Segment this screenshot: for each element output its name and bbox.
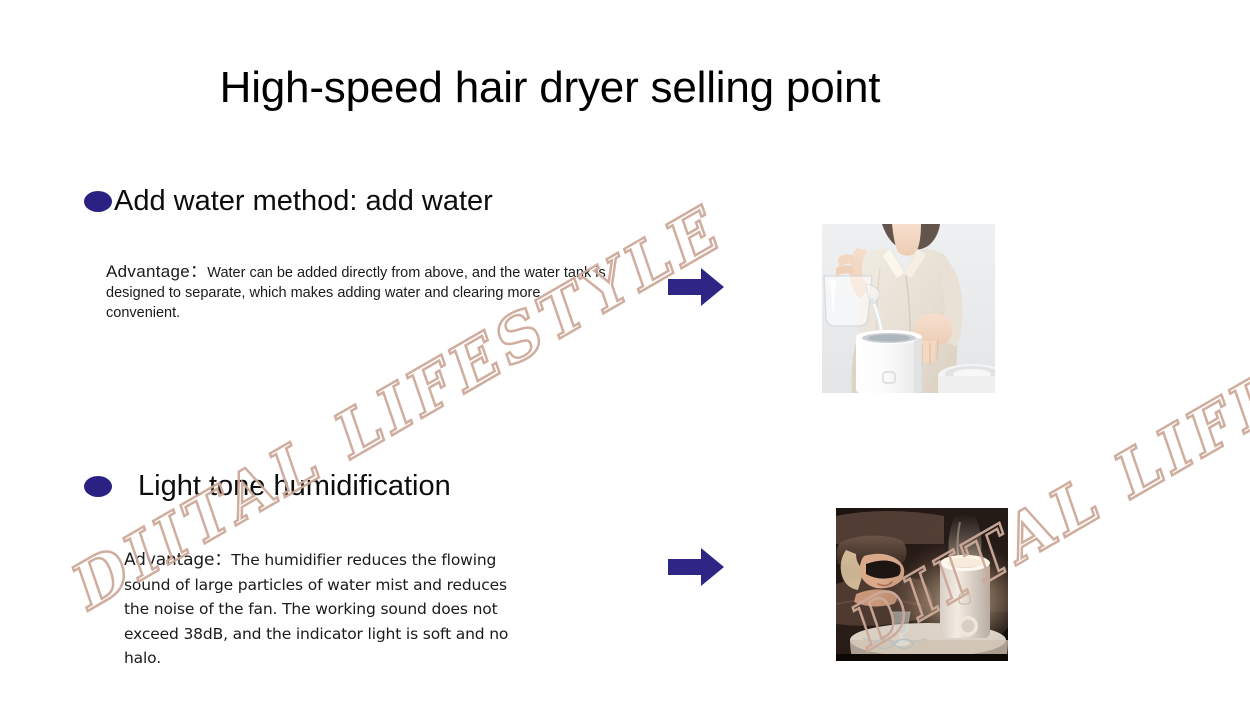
- right-block-arrow-glyph: [668, 548, 724, 586]
- photo-add-water: [822, 224, 995, 393]
- right-block-arrow-icon: [668, 268, 724, 306]
- advantage-lead-label: Advantage：: [124, 550, 231, 570]
- right-block-arrow-glyph: [668, 268, 724, 306]
- section-heading-label: Light tone humidification: [138, 470, 451, 503]
- photo-add-water-illustration: [822, 224, 995, 393]
- ellipse-bullet-icon: [84, 476, 112, 497]
- ellipse-bullet-icon: [84, 191, 112, 212]
- slide-canvas: High-speed hair dryer selling point Add …: [0, 0, 1250, 717]
- advantage-text-add-water: Advantage：Water can be added directly fr…: [106, 262, 606, 323]
- page-title: High-speed hair dryer selling point: [0, 63, 1100, 113]
- section-heading-label: Add water method: add water: [114, 185, 493, 218]
- advantage-text-light-tone: Advantage：The humidifier reduces the flo…: [124, 548, 524, 671]
- right-block-arrow-icon: [668, 548, 724, 586]
- advantage-lead-label: Advantage：: [106, 262, 207, 281]
- photo-light-tone: [836, 508, 1008, 661]
- photo-light-tone-illustration: [836, 508, 1008, 661]
- section-heading-add-water: Add water method: add water: [84, 185, 493, 218]
- section-heading-light-tone: Light tone humidification: [84, 470, 451, 503]
